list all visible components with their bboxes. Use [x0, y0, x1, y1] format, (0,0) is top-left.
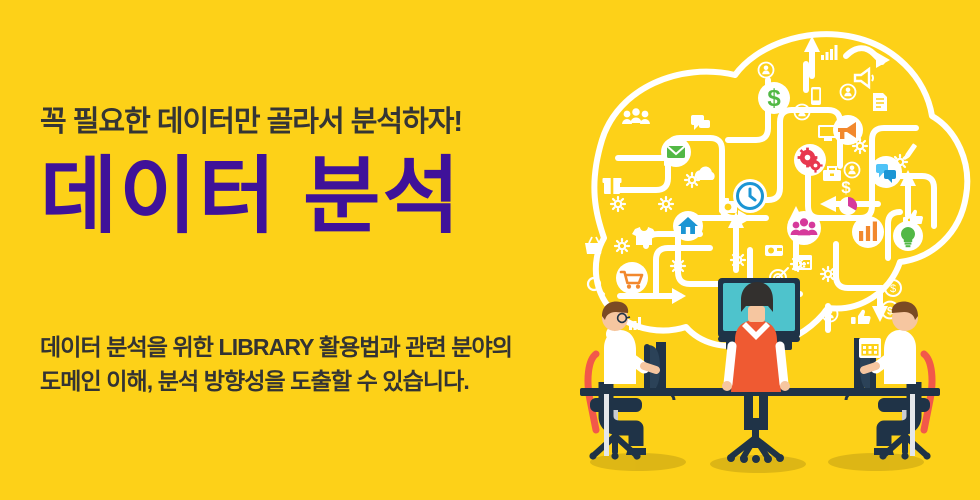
text-block: 꼭 필요한 데이터만 골라서 분석하자! 데이터 분석 — [40, 105, 560, 239]
calendar-icon — [859, 338, 881, 358]
stool-center — [727, 418, 784, 463]
gear-icon — [659, 197, 673, 211]
user-badge-icon — [845, 163, 860, 178]
pie-chart-icon — [839, 197, 857, 215]
user-badge-icon — [759, 63, 774, 78]
dollar-icon: $ — [758, 82, 790, 114]
banner-subtitle: 꼭 필요한 데이터만 골라서 분석하자! — [40, 105, 560, 140]
banner-description: 데이터 분석을 위한 LIBRARY 활용법과 관련 분야의 도메인 이해, 분… — [40, 330, 580, 398]
people-icon — [622, 108, 650, 124]
description-line-1: 데이터 분석을 위한 LIBRARY 활용법과 관련 분야의 — [40, 330, 580, 364]
photo-icon — [765, 245, 783, 256]
svg-text:$: $ — [890, 283, 896, 295]
home-icon — [673, 211, 703, 241]
cloud-icon — [695, 166, 715, 180]
people-group-icon — [787, 211, 821, 245]
gear-icon — [615, 239, 629, 253]
svg-text:$: $ — [767, 85, 781, 112]
chat-bubble-outline-icon — [691, 115, 710, 130]
briefcase-icon — [823, 167, 841, 181]
banner-title: 데이터 분석 — [40, 154, 560, 240]
gears-icon — [794, 144, 826, 176]
lightbulb-icon — [893, 221, 923, 251]
chat-bubbles-icon — [870, 156, 902, 188]
thumbs-up-icon — [851, 310, 871, 324]
gear-icon — [685, 173, 699, 187]
clock-icon — [733, 179, 767, 213]
bar-chart-icon — [852, 216, 884, 248]
signal-icon — [821, 45, 838, 60]
gear-icon — [821, 267, 835, 281]
shopping-cart-icon — [616, 262, 648, 294]
gear-icon — [611, 197, 625, 211]
megaphone-icon — [833, 115, 863, 145]
promo-banner: 꼭 필요한 데이터만 골라서 분석하자! 데이터 분석 데이터 분석을 위한 L… — [0, 0, 980, 500]
workspace-scene: $ — [580, 278, 940, 473]
speaker-icon — [855, 69, 873, 87]
brain-network-illustration: $ $ — [560, 0, 980, 500]
document-icon — [873, 93, 887, 111]
envelope-icon — [661, 137, 691, 167]
dollar-sign-icon: $ — [841, 178, 851, 197]
smartphone-icon — [811, 87, 821, 105]
gift-icon — [603, 177, 622, 194]
description-line-2: 도메인 이해, 분석 방향성을 도출할 수 있습니다. — [40, 364, 580, 398]
user-badge-icon — [841, 85, 856, 100]
svg-text:$: $ — [841, 178, 851, 197]
